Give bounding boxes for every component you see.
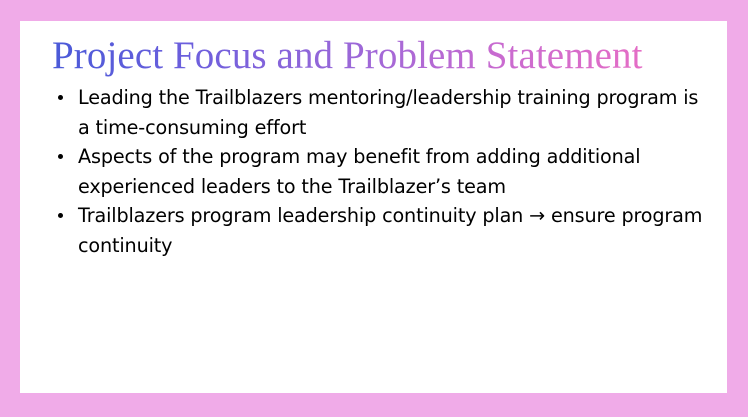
list-item: Leading the Trailblazers mentoring/leade… bbox=[52, 83, 712, 142]
list-item: Trailblazers program leadership continui… bbox=[52, 201, 712, 260]
list-item-text: Aspects of the program may benefit from … bbox=[78, 142, 712, 201]
slide-content-area: Project Focus and Problem Statement Lead… bbox=[20, 21, 727, 393]
page-title: Project Focus and Problem Statement bbox=[52, 33, 692, 79]
bullet-dot-icon bbox=[58, 213, 63, 218]
slide-frame: Project Focus and Problem Statement Lead… bbox=[0, 0, 748, 417]
list-item-text: Leading the Trailblazers mentoring/leade… bbox=[78, 83, 712, 142]
bullet-dot-icon bbox=[58, 95, 63, 100]
list-item: Aspects of the program may benefit from … bbox=[52, 142, 712, 201]
bullet-list: Leading the Trailblazers mentoring/leade… bbox=[52, 83, 712, 261]
bullet-dot-icon bbox=[58, 154, 63, 159]
list-item-text: Trailblazers program leadership continui… bbox=[78, 201, 712, 260]
